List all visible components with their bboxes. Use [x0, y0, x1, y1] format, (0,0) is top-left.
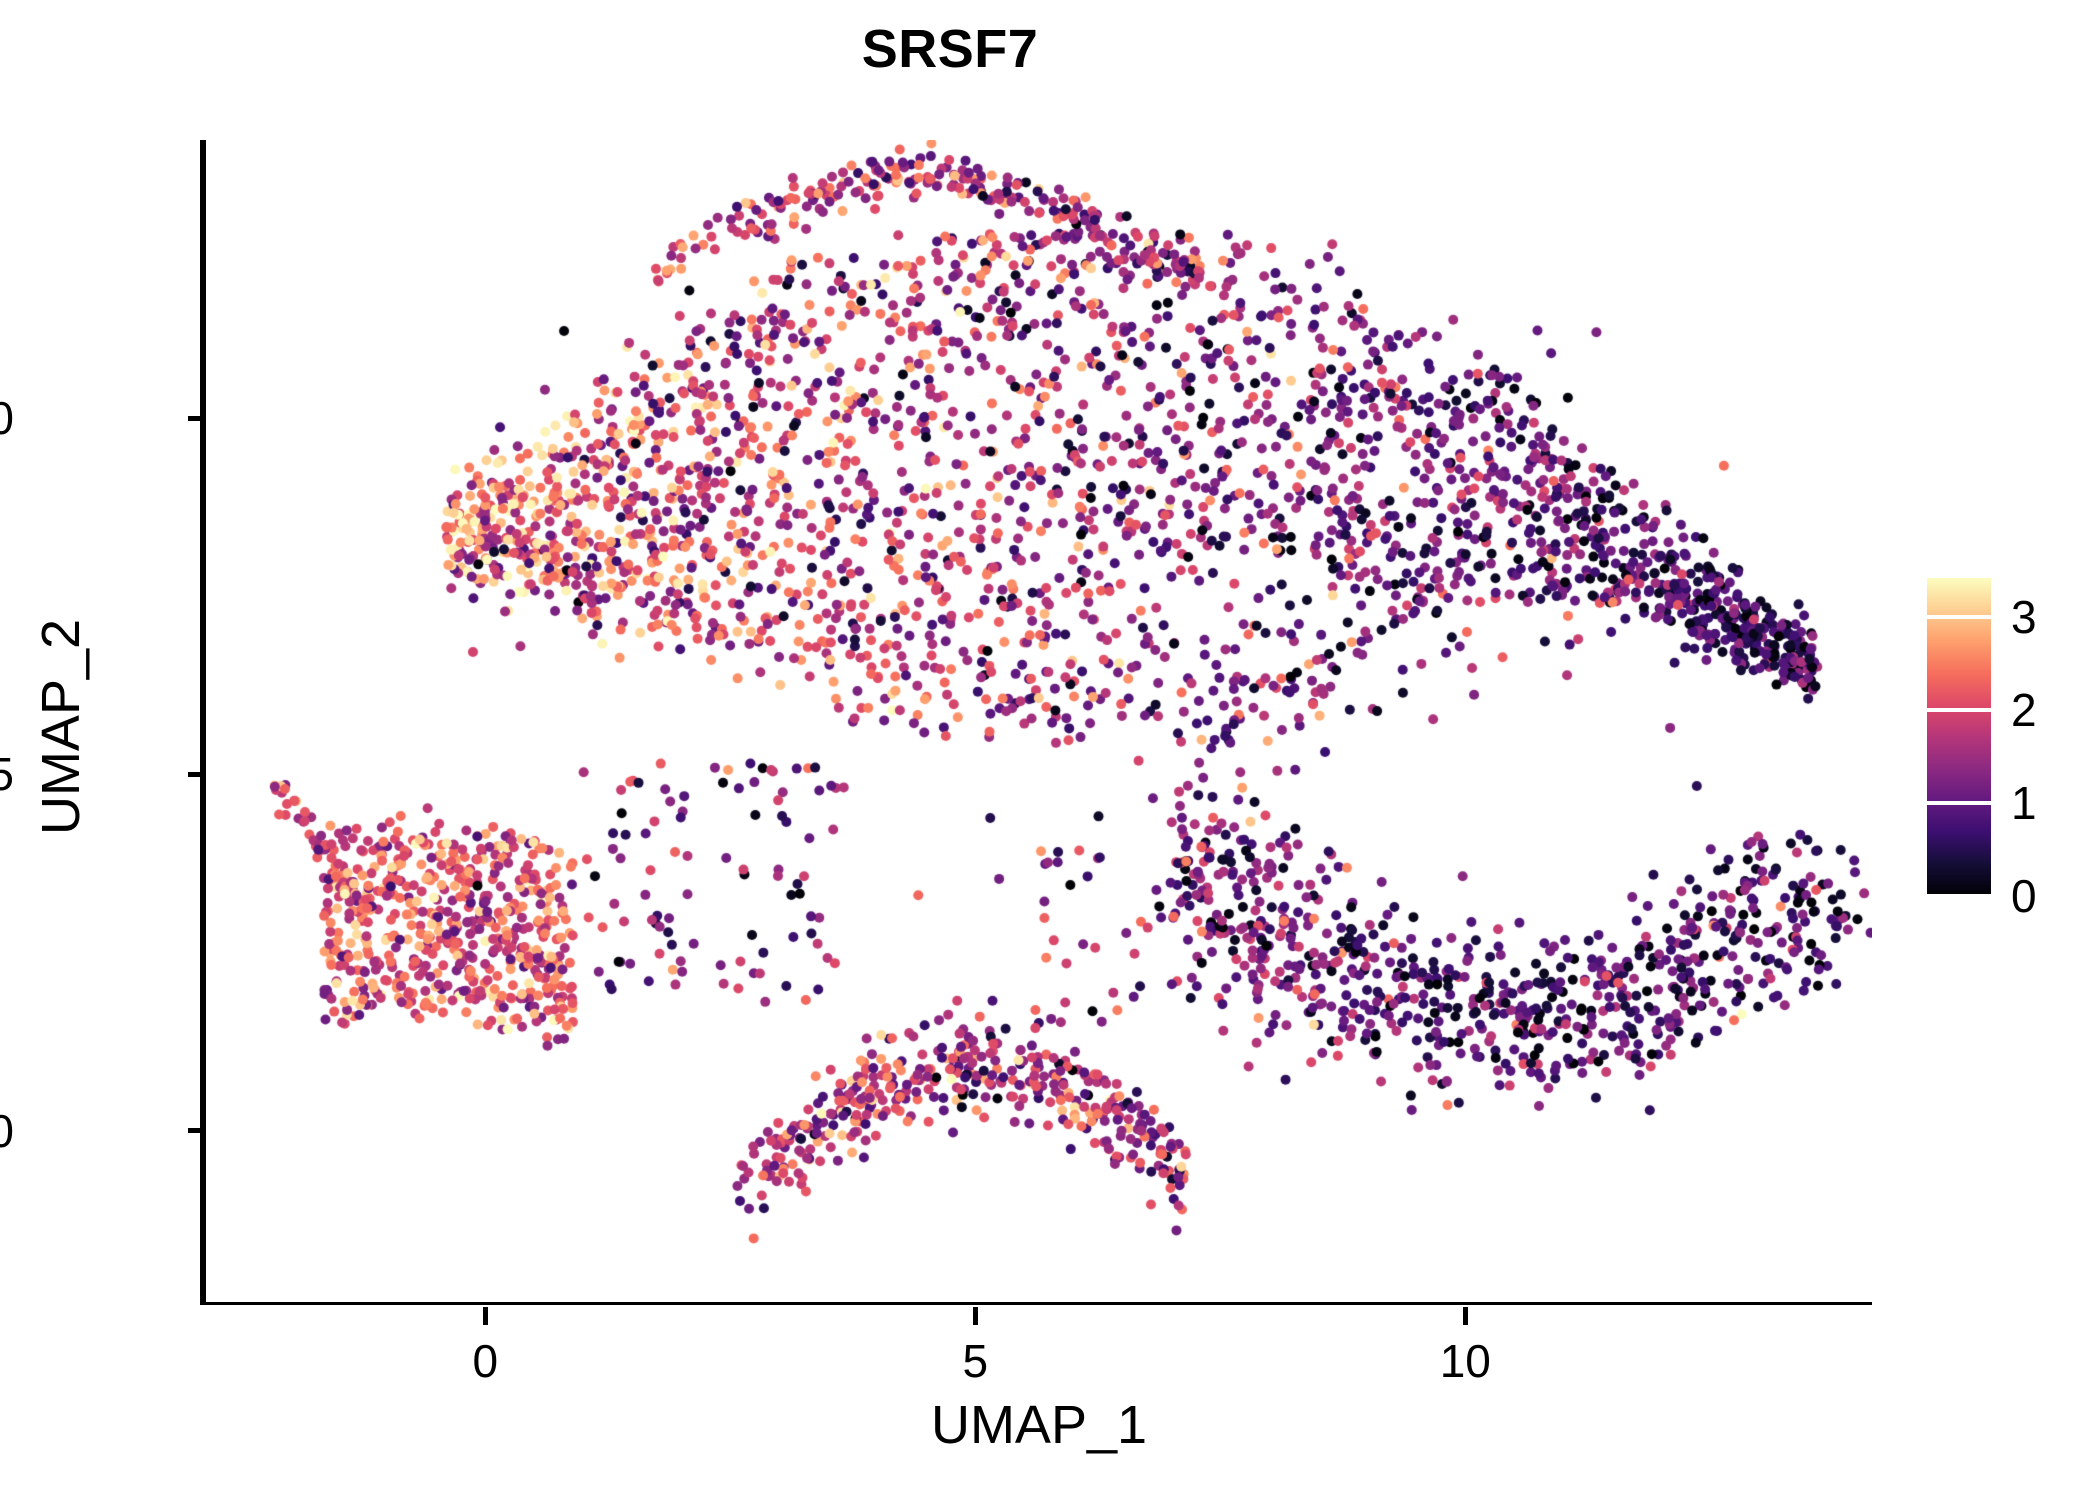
x-tick-mark [1463, 1307, 1468, 1325]
y-axis-title: UMAP_2 [34, 146, 88, 1308]
colorbar-tick-mark [1927, 894, 1991, 898]
x-axis-title: UMAP_1 [206, 1398, 1872, 1452]
colorbar-tick-mark [1927, 801, 1991, 805]
y-tick-mark [188, 772, 206, 777]
y-tick-label: 10 [0, 395, 14, 441]
y-tick-label: 5 [0, 751, 14, 797]
page-title: SRSF7 [0, 22, 1900, 76]
colorbar-tick-label: 0 [2011, 873, 2037, 919]
colorbar-tick-mark [1927, 615, 1991, 619]
x-tick-mark [973, 1307, 978, 1325]
x-tick-label: 0 [473, 1338, 499, 1384]
x-tick-label: 5 [963, 1338, 989, 1384]
colorbar-gradient [1927, 578, 1991, 896]
y-tick-mark [188, 416, 206, 421]
colorbar-tick-mark [1927, 708, 1991, 712]
colorbar-tick-label: 2 [2011, 687, 2037, 733]
plot-panel [206, 140, 1872, 1302]
x-tick-mark [483, 1307, 488, 1325]
colorbar-tick-label: 1 [2011, 780, 2037, 826]
y-tick-label: 0 [0, 1108, 14, 1154]
x-tick-label: 10 [1440, 1338, 1491, 1384]
y-tick-mark [188, 1128, 206, 1133]
colorbar-tick-label: 3 [2011, 594, 2037, 640]
scatter-points-canvas [206, 140, 1872, 1302]
umap-feature-plot: SRSF7 0510 0510 UMAP_1 UMAP_2 3210 [0, 0, 2100, 1500]
colorbar-legend: 3210 [1927, 578, 2097, 898]
